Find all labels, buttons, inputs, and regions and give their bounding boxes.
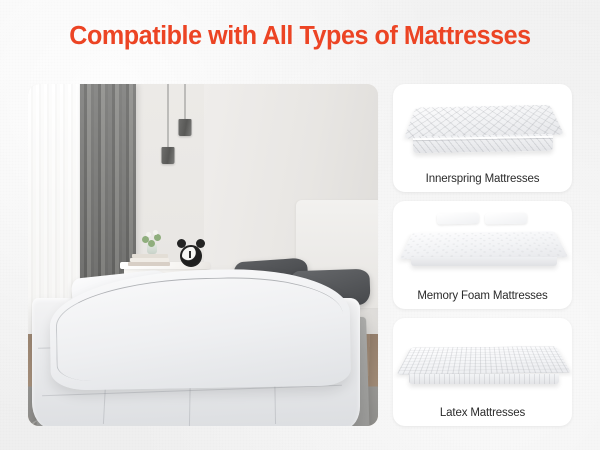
page-title: Compatible with All Types of Mattresses [5, 24, 596, 50]
latex-side-panel [409, 374, 559, 384]
potted-plant [140, 230, 164, 254]
book [132, 254, 168, 258]
book [128, 262, 170, 266]
innerspring-mattress-icon [393, 90, 572, 162]
clock-face [180, 245, 202, 267]
pendant-cord [184, 84, 185, 120]
mattress-card-label: Latex Mattresses [440, 408, 525, 420]
flower [153, 230, 158, 235]
book [130, 258, 169, 262]
pendant-shade [178, 119, 191, 136]
memory-foam-side-panel [411, 257, 557, 266]
innerspring-side-panel [413, 134, 553, 153]
pendant-shade [161, 147, 174, 164]
mattress-card-label: Innerspring Mattresses [426, 174, 540, 186]
pendant-cord [167, 84, 168, 148]
latex-grid-top [397, 346, 571, 374]
book-stack [128, 252, 170, 267]
clock-hands [189, 251, 191, 258]
foam-pillow [437, 212, 479, 224]
mattress-card-memory-foam[interactable]: Memory Foam Mattresses [393, 201, 572, 309]
latex-mattress-icon [393, 324, 572, 396]
mattress-card-label: Memory Foam Mattresses [417, 291, 547, 303]
pendant-light-right [178, 84, 191, 120]
memory-foam-mattress-icon [393, 207, 572, 279]
hero-bedroom-photo [28, 84, 378, 426]
leaf [154, 234, 161, 241]
pendant-light-left [161, 84, 174, 148]
mattress-type-card-list: Innerspring Mattresses Memory Foam Mattr… [393, 84, 572, 426]
memory-foam-top [400, 231, 569, 259]
mattress-card-innerspring[interactable]: Innerspring Mattresses [393, 84, 572, 192]
alarm-clock [178, 239, 204, 269]
leaf [148, 240, 155, 247]
mattress-card-latex[interactable]: Latex Mattresses [393, 318, 572, 426]
foam-pillow [485, 213, 527, 225]
flower [146, 232, 151, 237]
